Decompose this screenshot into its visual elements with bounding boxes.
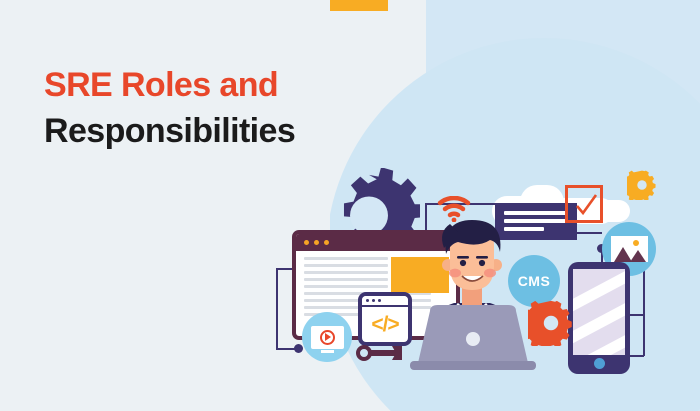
wrench-icon xyxy=(352,340,404,366)
browser-text-line xyxy=(304,257,388,260)
video-screen xyxy=(311,326,344,349)
page-title: SRE Roles and Responsibilities xyxy=(44,62,295,154)
page-title-line-2: Responsibilities xyxy=(44,108,295,154)
smartphone-screen xyxy=(573,269,625,355)
mountain-shape xyxy=(630,250,646,262)
play-icon xyxy=(320,330,335,345)
video-player-icon[interactable] xyxy=(302,312,352,362)
connector-line xyxy=(276,268,278,350)
banner-root: SRE Roles and Responsibilities xyxy=(0,0,700,411)
checkbox-checked-icon[interactable] xyxy=(565,185,603,223)
page-title-line-1: SRE Roles and xyxy=(44,62,295,108)
code-dot-icon xyxy=(366,299,369,302)
browser-text-line xyxy=(304,264,388,267)
browser-text-line xyxy=(304,271,388,274)
card-text-line xyxy=(504,211,568,215)
connector-dot xyxy=(294,344,303,353)
smartphone-icon[interactable] xyxy=(568,262,630,374)
browser-text-line xyxy=(304,285,388,288)
code-dot-icon xyxy=(372,299,375,302)
browser-dot-icon xyxy=(304,240,309,245)
sun-icon xyxy=(633,240,639,246)
image-frame xyxy=(611,236,648,262)
video-stand xyxy=(321,350,334,353)
gear-small-yellow-icon xyxy=(627,170,657,200)
smartphone-home-button[interactable] xyxy=(594,358,605,369)
browser-dot-icon xyxy=(324,240,329,245)
laptop-icon[interactable] xyxy=(408,305,538,373)
browser-text-line xyxy=(304,278,388,281)
check-icon xyxy=(574,194,598,218)
code-dot-icon xyxy=(378,299,381,302)
browser-dot-icon xyxy=(314,240,319,245)
code-window[interactable]: </> xyxy=(358,292,412,346)
